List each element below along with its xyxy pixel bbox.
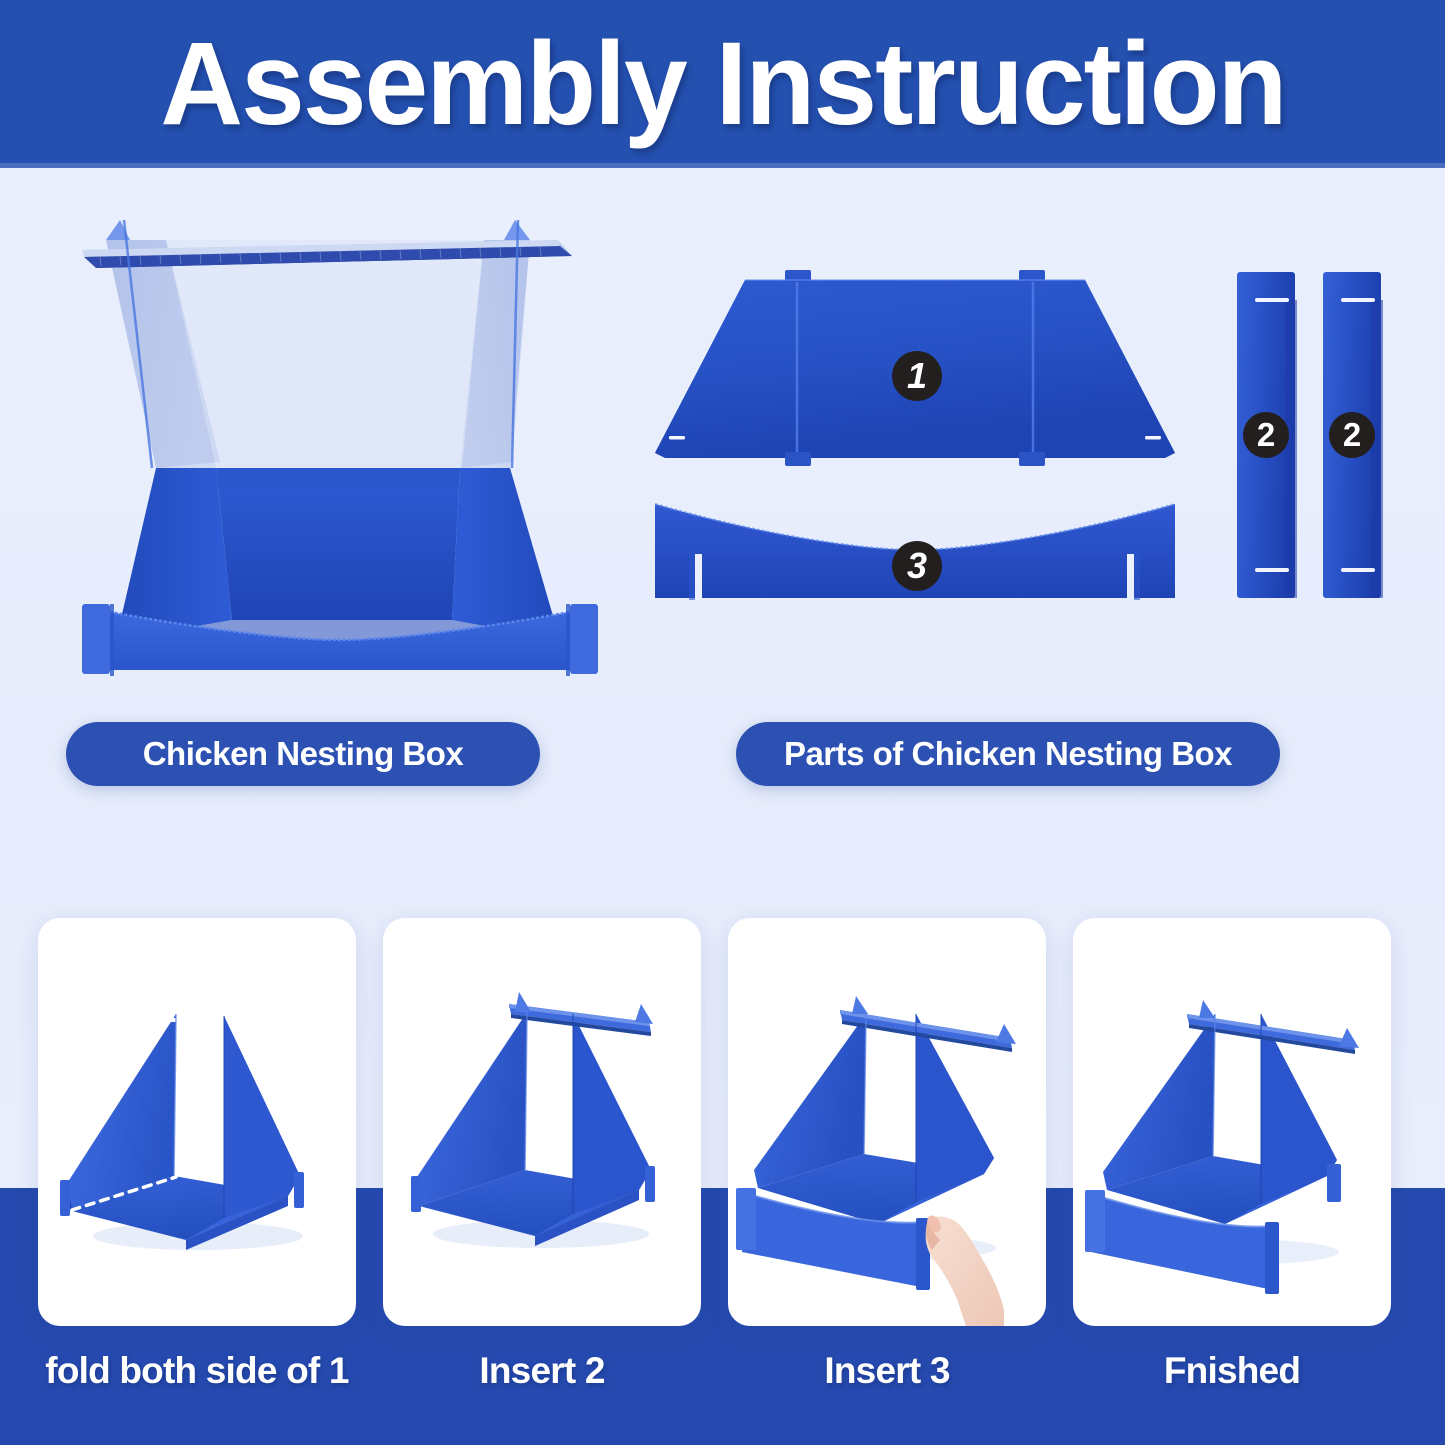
assembly-instruction-poster: Assembly Instruction [0, 0, 1445, 1445]
step-fold-sides: fold both side of 1 [38, 918, 356, 1326]
header-banner: Assembly Instruction [0, 0, 1445, 168]
parts-caption-label: Parts of Chicken Nesting Box [784, 735, 1232, 773]
step-1-caption: fold both side of 1 [38, 1350, 356, 1392]
step-2-card [383, 918, 701, 1326]
svg-text:2: 2 [1343, 416, 1361, 453]
step-4-caption: Fnished [1073, 1350, 1391, 1392]
step-4-card [1073, 918, 1391, 1326]
step-insert-3: Insert 3 [728, 918, 1046, 1326]
parts-caption-pill: Parts of Chicken Nesting Box [736, 722, 1280, 786]
step-2-caption: Insert 2 [383, 1350, 701, 1392]
page-title: Assembly Instruction [160, 25, 1285, 143]
step-3-card [728, 918, 1046, 1326]
step-insert-2: Insert 2 [383, 918, 701, 1326]
product-caption-label: Chicken Nesting Box [143, 735, 464, 773]
svg-text:3: 3 [907, 545, 927, 586]
svg-text:1: 1 [907, 355, 927, 396]
product-caption-pill: Chicken Nesting Box [66, 722, 540, 786]
step-1-card [38, 918, 356, 1326]
step-finished: Fnished [1073, 918, 1391, 1326]
parts-diagram: 1 3 [645, 258, 1405, 643]
step-3-caption: Insert 3 [728, 1350, 1046, 1392]
assembled-product-illustration [60, 200, 620, 700]
hand-icon [924, 1213, 1004, 1326]
svg-text:2: 2 [1257, 416, 1275, 453]
assembly-steps-row: fold both side of 1 [0, 918, 1445, 1445]
